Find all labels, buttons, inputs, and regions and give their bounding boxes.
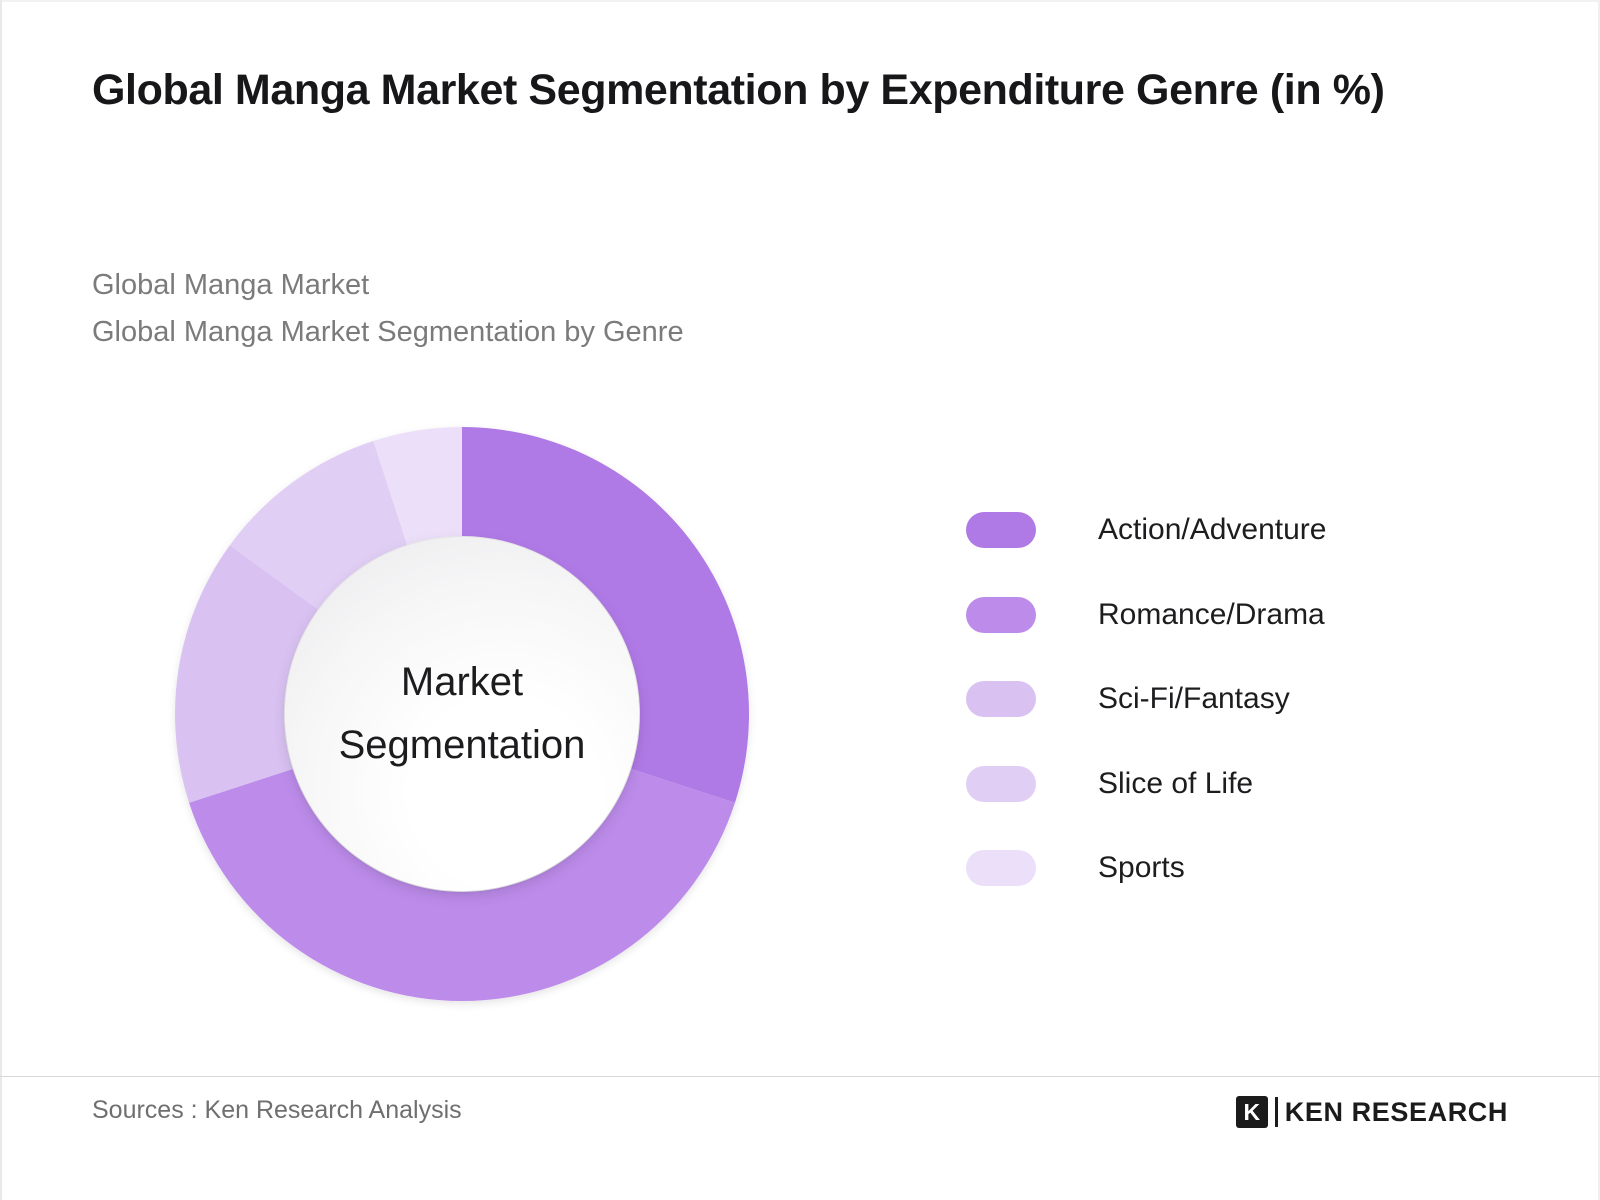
legend-swatch-icon	[966, 681, 1036, 717]
page-border-left	[0, 0, 2, 1200]
donut-center-hub: Market Segmentation	[285, 537, 639, 891]
center-label-line-2: Segmentation	[339, 714, 586, 777]
legend-label: Romance/Drama	[1098, 598, 1325, 632]
brand-logo: K KEN RESEARCH	[1236, 1093, 1508, 1131]
chart-legend: Action/AdventureRomance/DramaSci-Fi/Fant…	[966, 488, 1486, 911]
legend-swatch-icon	[966, 766, 1036, 802]
legend-item[interactable]: Sports	[966, 826, 1486, 911]
legend-label: Slice of Life	[1098, 767, 1253, 801]
page-title: Global Manga Market Segmentation by Expe…	[92, 62, 1522, 120]
legend-label: Sports	[1098, 851, 1185, 885]
sources-note: Sources : Ken Research Analysis	[92, 1096, 462, 1125]
subtitle-line-2: Global Manga Market Segmentation by Genr…	[92, 309, 1092, 356]
legend-swatch-icon	[966, 512, 1036, 548]
legend-item[interactable]: Romance/Drama	[966, 573, 1486, 658]
legend-swatch-icon	[966, 850, 1036, 886]
page-subtitle: Global Manga Market Global Manga Market …	[92, 262, 1092, 356]
brand-divider-icon	[1275, 1097, 1278, 1127]
footer-divider	[0, 1076, 1600, 1077]
brand-name: KEN RESEARCH	[1285, 1097, 1508, 1128]
chart-page: Global Manga Market Segmentation by Expe…	[0, 0, 1600, 1200]
legend-swatch-icon	[966, 597, 1036, 633]
legend-label: Action/Adventure	[1098, 513, 1326, 547]
subtitle-line-1: Global Manga Market	[92, 262, 1092, 309]
legend-item[interactable]: Slice of Life	[966, 742, 1486, 827]
brand-mark-icon: K	[1236, 1096, 1268, 1128]
center-label-line-1: Market	[401, 651, 523, 714]
page-border-top	[0, 0, 1600, 2]
legend-item[interactable]: Sci-Fi/Fantasy	[966, 657, 1486, 742]
legend-item[interactable]: Action/Adventure	[966, 488, 1486, 573]
legend-label: Sci-Fi/Fantasy	[1098, 682, 1290, 716]
donut-chart: Action/Adventure 30%Romance/Drama 40%Sci…	[162, 414, 762, 1014]
